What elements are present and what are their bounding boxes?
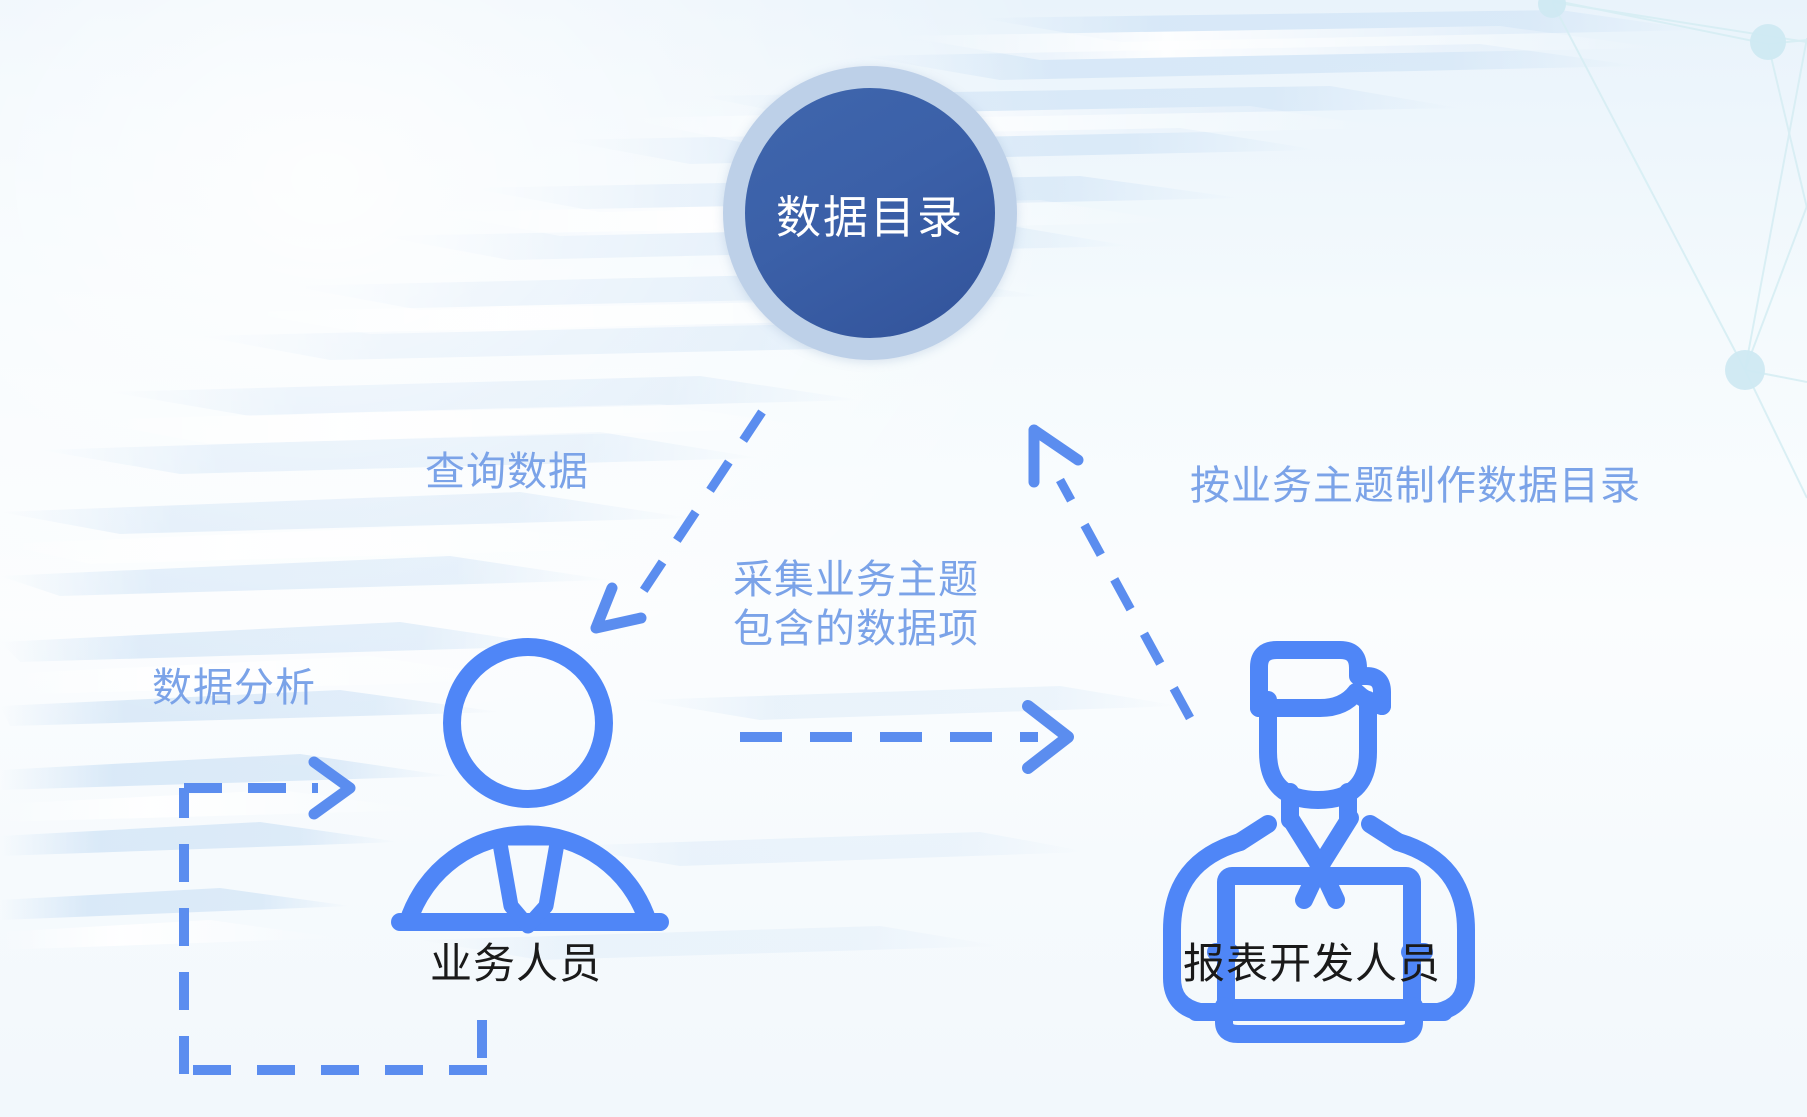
data-catalog-node[interactable]: 数据目录 [745, 88, 995, 338]
edge-label-query-data: 查询数据 [425, 448, 589, 497]
data-catalog-label: 数据目录 [776, 181, 964, 246]
report-developer-label: 报表开发人员 [1183, 930, 1441, 991]
edge-label-collect-items-line2: 包含的数据项 [733, 605, 979, 654]
business-person-label: 业务人员 [430, 930, 602, 991]
edge-label-data-analysis: 数据分析 [152, 664, 316, 713]
diagram-canvas: 数据目录 查询数据 按业务主题制作数据目录 采集业务主题 包含的数据项 数据分析 [0, 0, 1807, 1117]
edge-label-collect-items-line1: 采集业务主题 [733, 556, 979, 605]
edge-label-build-catalog: 按业务主题制作数据目录 [1190, 462, 1641, 511]
edge-label-collect-items: 采集业务主题 包含的数据项 [733, 556, 979, 654]
